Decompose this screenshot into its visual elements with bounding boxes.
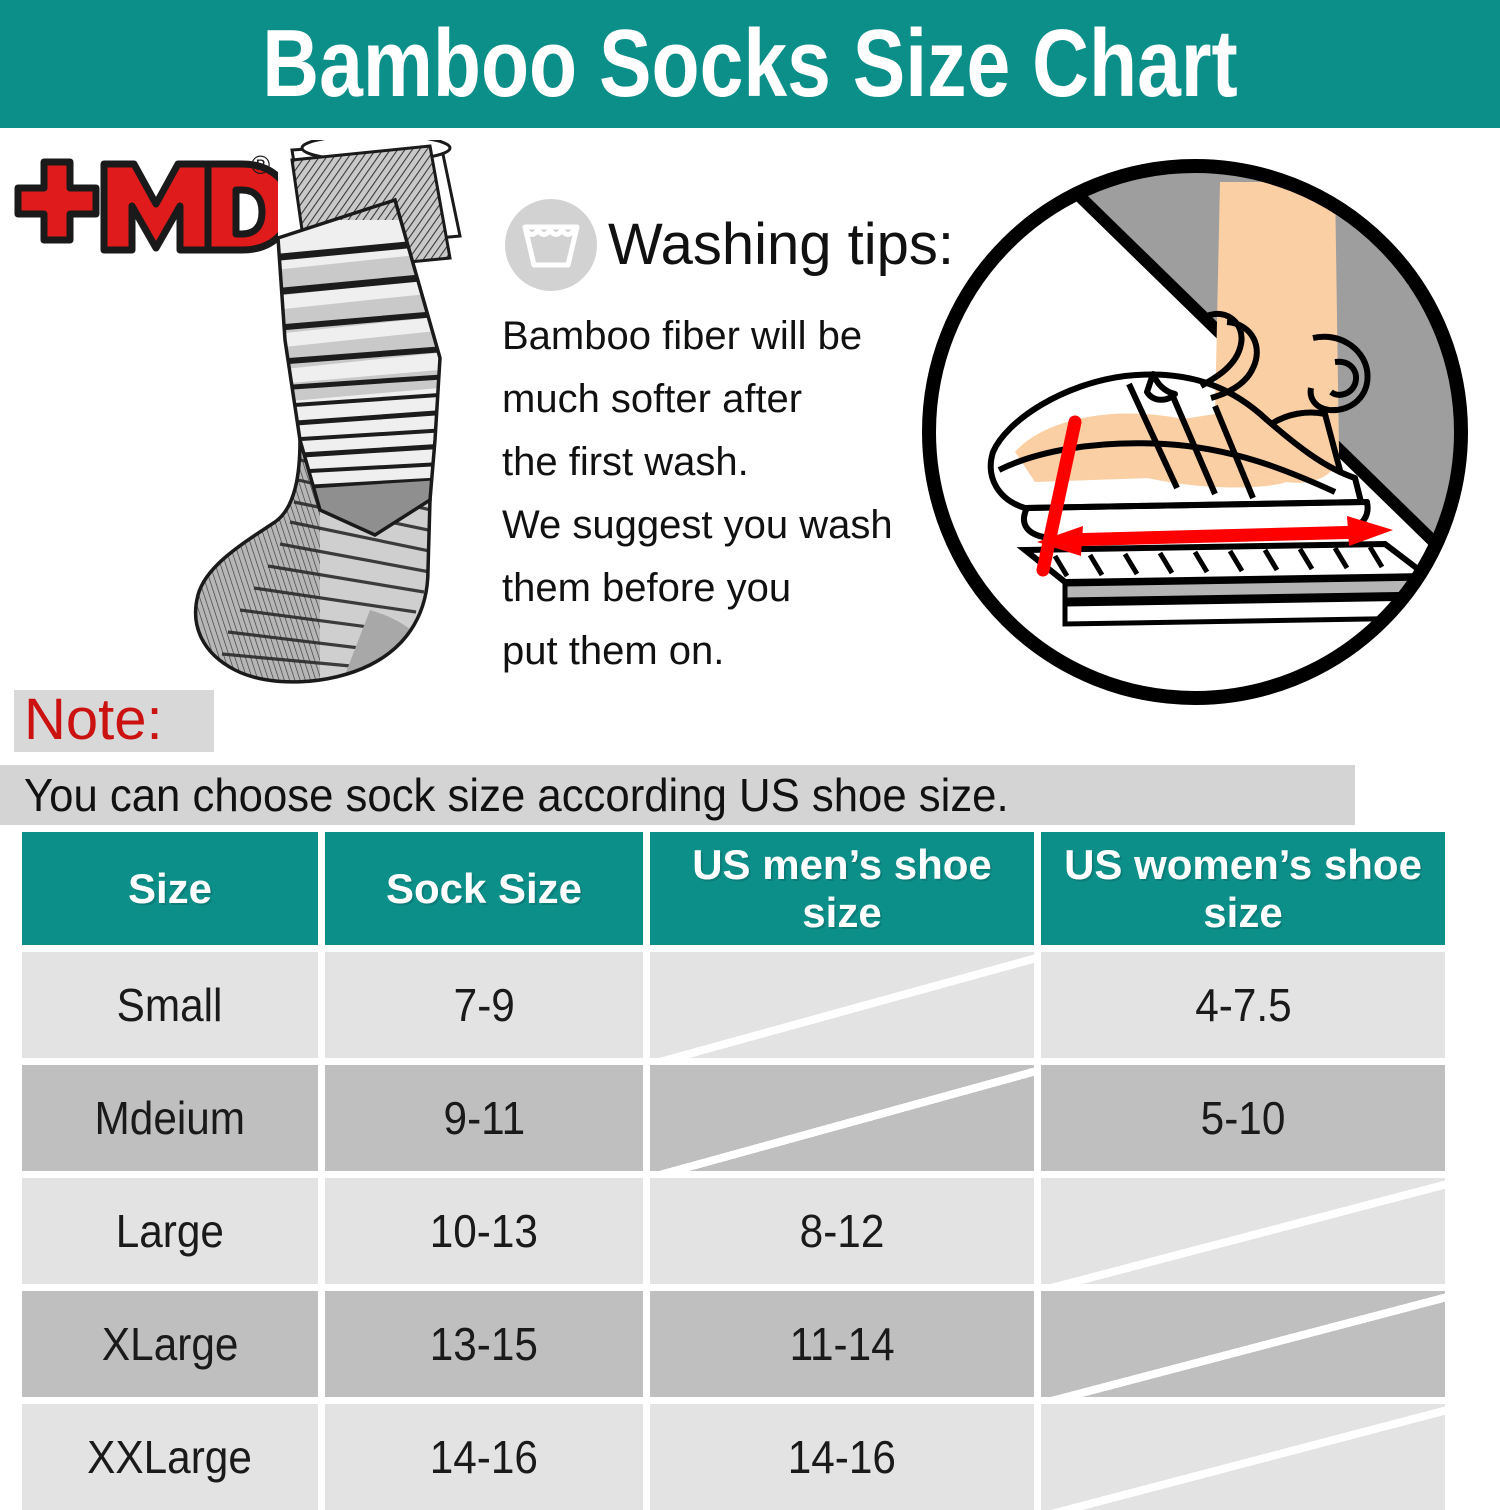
cell-sock-size: 14-16	[325, 1404, 643, 1510]
table-row[interactable]: XLarge 13-15 11-14	[22, 1291, 1462, 1397]
cell-mens-shoe-size	[650, 1065, 1034, 1171]
column-gap	[643, 832, 650, 945]
table-header-row: Size Sock Size US men’s shoe size US wom…	[22, 832, 1462, 945]
column-gap	[318, 1065, 325, 1171]
cell-sock-size: 7-9	[325, 952, 643, 1058]
column-gap	[1034, 1291, 1041, 1397]
washing-tips-body: Bamboo fiber will be much softer after t…	[502, 305, 932, 683]
table-row[interactable]: Mdeium 9-11 5-10	[22, 1065, 1462, 1171]
column-header-womens-shoe-size: US women’s shoe size	[1041, 832, 1445, 945]
column-header-sock-size: Sock Size	[325, 832, 643, 945]
column-gap	[1034, 1178, 1041, 1284]
cell-mens-shoe-size	[650, 952, 1034, 1058]
cell-size: Large	[22, 1178, 318, 1284]
cell-womens-shoe-size	[1041, 1291, 1445, 1397]
cell-mens-shoe-size: 8-12	[650, 1178, 1034, 1284]
column-gap	[1034, 1065, 1041, 1171]
cell-womens-shoe-size	[1041, 1178, 1445, 1284]
washing-tip-line: them before you	[502, 557, 932, 620]
cell-womens-shoe-size: 5-10	[1041, 1065, 1445, 1171]
table-row[interactable]: XXLarge 14-16 14-16	[22, 1404, 1462, 1510]
column-gap	[1034, 952, 1041, 1058]
column-gap	[318, 952, 325, 1058]
washing-tip-line: the first wash.	[502, 431, 932, 494]
cell-size: Mdeium	[22, 1065, 318, 1171]
shoe-ruler-icon	[915, 152, 1475, 712]
size-table: Size Sock Size US men’s shoe size US wom…	[22, 832, 1462, 1477]
column-gap	[318, 832, 325, 945]
column-gap	[318, 1291, 325, 1397]
washing-tip-line: much softer after	[502, 368, 932, 431]
note-sentence: You can choose sock size according US sh…	[24, 766, 1009, 824]
column-gap	[643, 1291, 650, 1397]
column-gap	[643, 1404, 650, 1510]
sock-illustration	[140, 140, 530, 770]
washing-tips-title: Washing tips:	[608, 203, 954, 287]
column-header-size: Size	[22, 832, 318, 945]
cell-size: XLarge	[22, 1291, 318, 1397]
cell-womens-shoe-size	[1041, 1404, 1445, 1510]
column-gap	[1034, 1404, 1041, 1510]
title-banner: Bamboo Socks Size Chart	[0, 0, 1500, 128]
cell-sock-size: 9-11	[325, 1065, 643, 1171]
cell-size: XXLarge	[22, 1404, 318, 1510]
column-gap	[643, 1065, 650, 1171]
note-label: Note:	[24, 684, 163, 756]
table-row[interactable]: Large 10-13 8-12	[22, 1178, 1462, 1284]
cell-sock-size: 13-15	[325, 1291, 643, 1397]
column-gap	[643, 952, 650, 1058]
striped-sock-icon	[140, 140, 530, 770]
page-title: Bamboo Socks Size Chart	[135, 4, 1365, 124]
column-gap	[643, 1178, 650, 1284]
foot-measure-illustration	[915, 152, 1475, 712]
column-header-mens-shoe-size: US men’s shoe size	[650, 832, 1034, 945]
washing-tip-line: Bamboo fiber will be	[502, 305, 932, 368]
cell-mens-shoe-size: 11-14	[650, 1291, 1034, 1397]
column-gap	[318, 1404, 325, 1510]
cell-mens-shoe-size: 14-16	[650, 1404, 1034, 1510]
cell-womens-shoe-size: 4-7.5	[1041, 952, 1445, 1058]
washing-tip-line: put them on.	[502, 620, 932, 683]
cell-sock-size: 10-13	[325, 1178, 643, 1284]
column-gap	[318, 1178, 325, 1284]
washing-tip-line: We suggest you wash	[502, 494, 932, 557]
cell-size: Small	[22, 952, 318, 1058]
column-gap	[1034, 832, 1041, 945]
table-row[interactable]: Small 7-9 4-7.5	[22, 952, 1462, 1058]
wash-tub-icon	[503, 197, 599, 293]
